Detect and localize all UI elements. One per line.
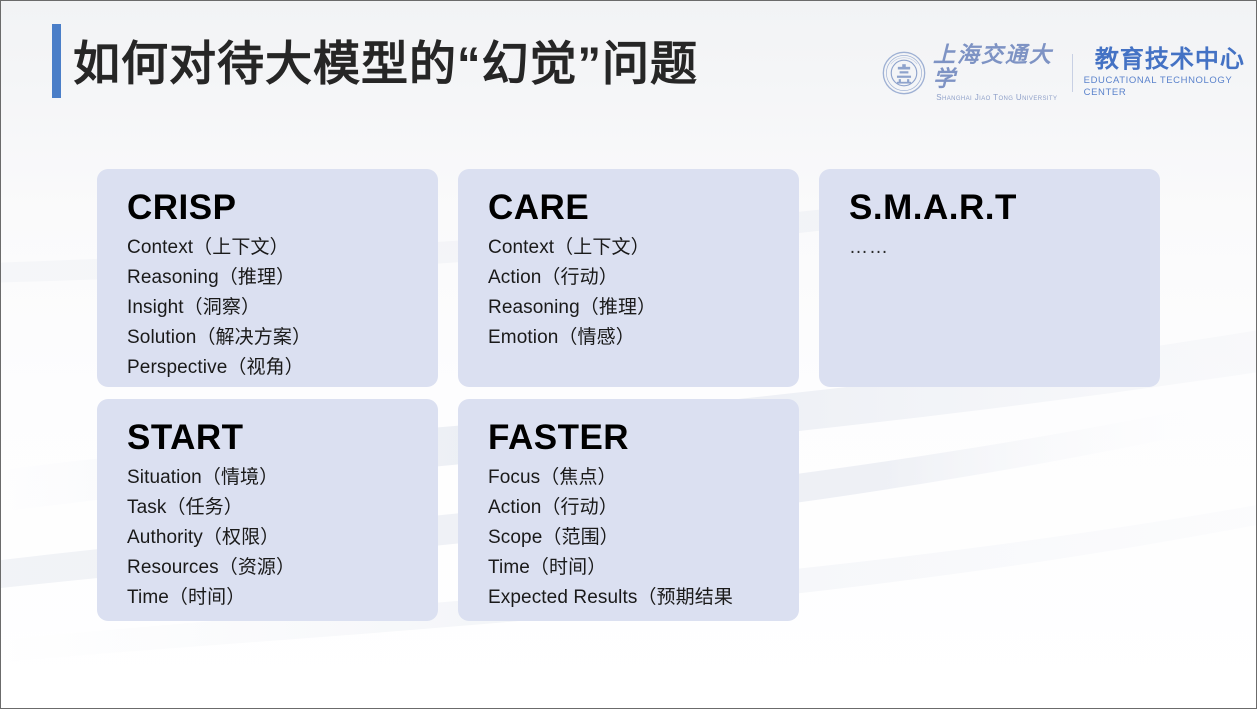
card-line: ……: [849, 233, 1160, 263]
card-care[interactable]: CARE Context（上下文） Action（行动） Reasoning（推…: [458, 169, 799, 387]
card-line: Insight（洞察）: [127, 293, 438, 323]
center-name-cn: 教育技术中心: [1095, 47, 1245, 73]
card-line: Action（行动）: [488, 263, 799, 293]
card-line: Context（上下文）: [127, 233, 438, 263]
card-line: Focus（焦点）: [488, 463, 799, 493]
card-row-1: CRISP Context（上下文） Reasoning（推理） Insight…: [97, 169, 1160, 387]
card-title: CARE: [488, 187, 799, 229]
logo-divider: [1072, 54, 1073, 92]
card-line: Resources（资源）: [127, 553, 438, 583]
card-line: Task（任务）: [127, 493, 438, 523]
framework-card-grid: CRISP Context（上下文） Reasoning（推理） Insight…: [97, 169, 1160, 621]
sjtu-seal-icon: [882, 51, 926, 95]
card-line: Solution（解决方案）: [127, 323, 438, 353]
card-title: FASTER: [488, 417, 799, 459]
card-smart[interactable]: S.M.A.R.T ……: [819, 169, 1160, 387]
slide-canvas: 如何对待大模型的“幻觉”问题 上海交通大学 Shanghai Jiao Tong…: [0, 0, 1257, 709]
university-name-block: 上海交通大学 Shanghai Jiao Tong University: [933, 43, 1061, 103]
card-title: CRISP: [127, 187, 438, 229]
card-line: Reasoning（推理）: [488, 293, 799, 323]
card-faster[interactable]: FASTER Focus（焦点） Action（行动） Scope（范围） Ti…: [458, 399, 799, 621]
card-line: Perspective（视角）: [127, 353, 438, 383]
card-line: Time（时间）: [127, 583, 438, 613]
card-line: Time（时间）: [488, 553, 799, 583]
organization-logo: 上海交通大学 Shanghai Jiao Tong University 教育技…: [882, 49, 1256, 97]
center-name-en: EDUCATIONAL TECHNOLOGY CENTER: [1084, 75, 1256, 99]
center-name-block: 教育技术中心 EDUCATIONAL TECHNOLOGY CENTER: [1084, 47, 1256, 99]
card-line: Expected Results（预期结果: [488, 583, 799, 613]
card-line: Context（上下文）: [488, 233, 799, 263]
card-start[interactable]: START Situation（情境） Task（任务） Authority（权…: [97, 399, 438, 621]
card-line: Action（行动）: [488, 493, 799, 523]
card-title: START: [127, 417, 438, 459]
card-line: Reasoning（推理）: [127, 263, 438, 293]
card-row-2: START Situation（情境） Task（任务） Authority（权…: [97, 399, 1160, 621]
card-crisp[interactable]: CRISP Context（上下文） Reasoning（推理） Insight…: [97, 169, 438, 387]
title-accent-bar: [52, 24, 61, 98]
card-line: Authority（权限）: [127, 523, 438, 553]
page-title: 如何对待大模型的“幻觉”问题: [73, 35, 698, 93]
card-line: Scope（范围）: [488, 523, 799, 553]
card-line: Situation（情境）: [127, 463, 438, 493]
card-line: Emotion（情感）: [488, 323, 799, 353]
university-name-cn: 上海交通大学: [933, 43, 1061, 91]
card-title: S.M.A.R.T: [849, 187, 1160, 229]
university-name-en: Shanghai Jiao Tong University: [936, 92, 1057, 103]
